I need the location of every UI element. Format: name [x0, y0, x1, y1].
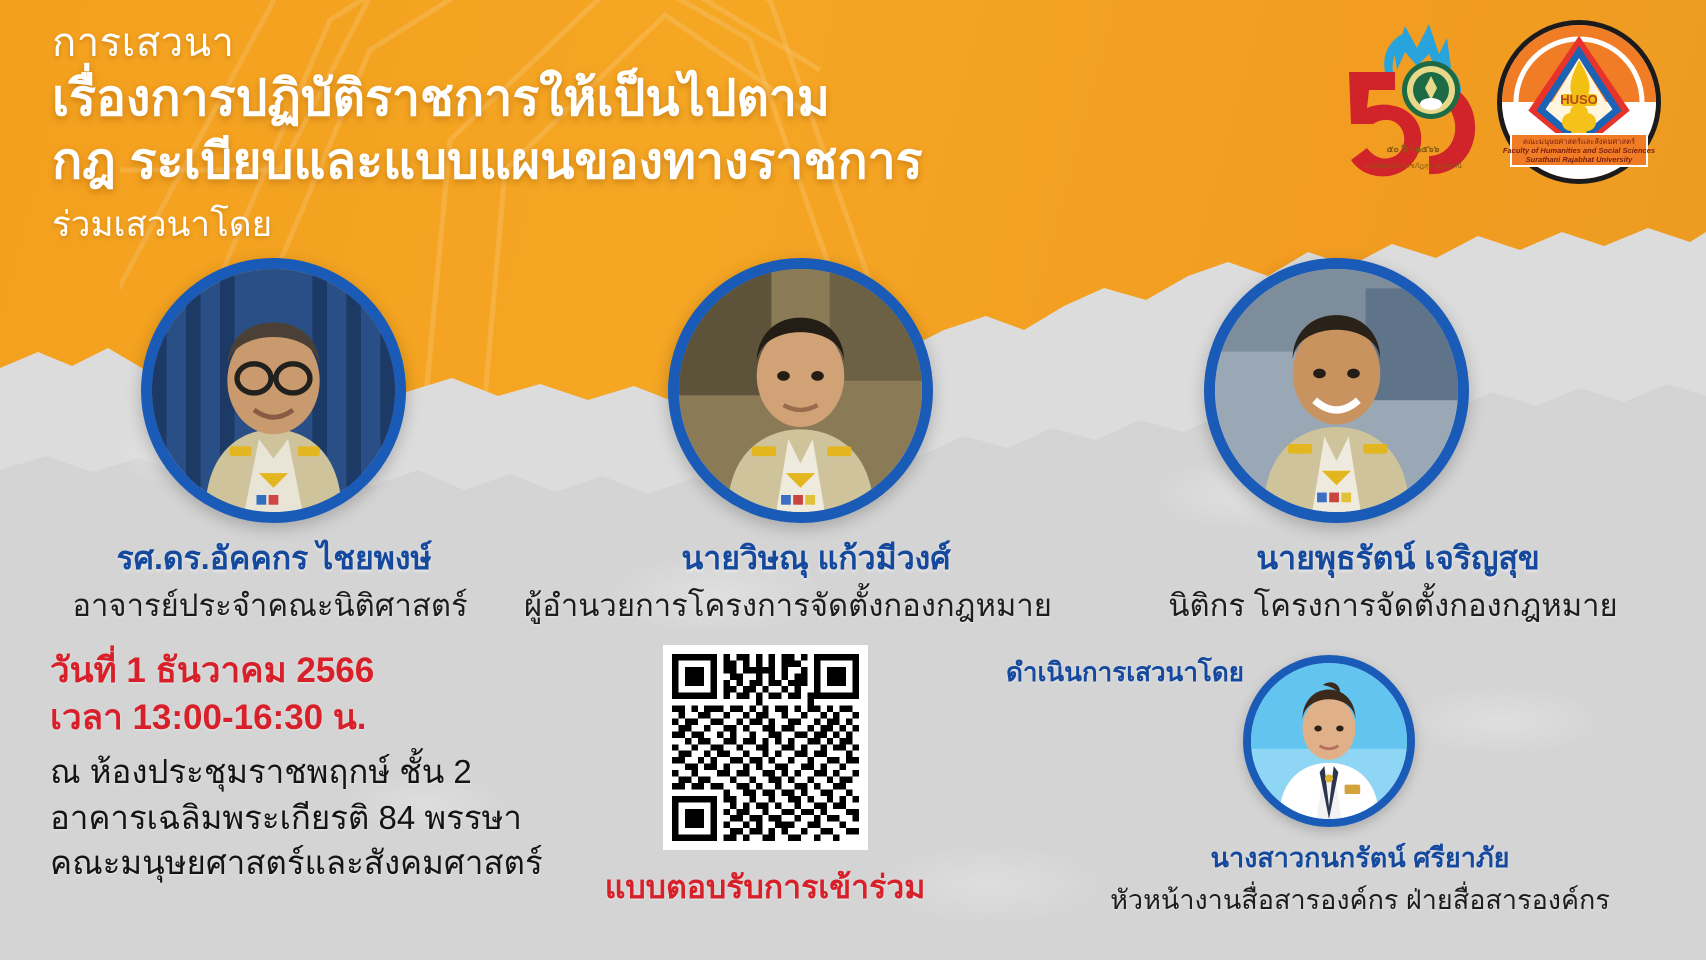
moderator-role: หัวหน้างานสื่อสารองค์กร ฝ่ายสื่อสารองค์ก…: [1040, 878, 1680, 921]
crest-university: Surathani Rajabhat University: [1526, 155, 1634, 164]
event-venue-line-2: อาคารเฉลิมพระเกียรติ 84 พรรษา: [50, 795, 590, 841]
qr-caption: แบบตอบรับการเข้าร่วม: [570, 862, 960, 913]
headline-line-1: การเสวนา: [52, 18, 1212, 68]
speaker-portrait-2: [668, 258, 933, 523]
event-venue-line-3: คณะมนุษยศาสตร์และสังคมศาสตร์: [50, 840, 590, 886]
moderator-portrait: [1243, 655, 1415, 827]
speaker-name-1: รศ.ดร.อัคคกร ไชยพงษ์: [24, 533, 524, 584]
speaker-portrait-row: [0, 258, 1706, 518]
speaker-portrait-1: [141, 258, 406, 523]
anniversary-caption-line1: ๕๐ ปี • ๒๕๖๖: [1387, 144, 1440, 154]
anniversary-caption-line2: มหาวิทยาลัยราชภัฏสุราษฎร์ธานี: [1364, 162, 1462, 170]
moderator-label: ดำเนินการเสวนาโดย: [995, 652, 1255, 693]
crest-english-name: Faculty of Humanities and Social Science…: [1503, 146, 1655, 155]
speaker-role-2: ผู้อำนวยการโครงการจัดตั้งกองกฎหมาย: [478, 580, 1098, 630]
50-years-anniversary-logo: ๕๐ ปี • ๒๕๖๖ มหาวิทยาลัยราชภัฏสุราษฎร์ธา…: [1333, 16, 1493, 186]
huso-faculty-crest: HUSO คณะมนุษยศาสตร์และสังคมศาสตร์ Facult…: [1495, 18, 1663, 186]
speaker-name-row: รศ.ดร.อัคคกร ไชยพงษ์ นายวิษณุ แก้วมีวงศ์…: [0, 533, 1706, 575]
event-details-block: วันที่ 1 ธันวาคม 2566 เวลา 13:00-16:30 น…: [50, 648, 590, 886]
speaker-portrait-3: [1204, 258, 1469, 523]
event-date: วันที่ 1 ธันวาคม 2566: [50, 648, 590, 695]
qr-code[interactable]: [663, 645, 868, 850]
speaker-role-row: อาจารย์ประจำคณะนิติศาสตร์ ผู้อำนวยการโคร…: [0, 580, 1706, 626]
moderator-name: นางสาวกนกรัตน์ ศรียาภัย: [1080, 836, 1640, 879]
speaker-name-3: นายพุธรัตน์ เจริญสุข: [1108, 533, 1688, 584]
speaker-role-1: อาจารย์ประจำคณะนิติศาสตร์: [10, 580, 530, 630]
event-time: เวลา 13:00-16:30 น.: [50, 695, 590, 742]
event-venue-line-1: ณ ห้องประชุมราชพฤกษ์ ชั้น 2: [50, 749, 590, 795]
headline-block: การเสวนา เรื่องการปฏิบัติราชการให้เป็นไป…: [52, 18, 1212, 248]
speaker-name-2: นายวิษณุ แก้วมีวงศ์: [526, 533, 1106, 584]
crest-thai-name: คณะมนุษยศาสตร์และสังคมศาสตร์: [1523, 137, 1635, 146]
speaker-role-3: นิติกร โครงการจัดตั้งกองกฎหมาย: [1078, 580, 1706, 630]
headline-line-4: ร่วมเสวนาโดย: [52, 202, 1212, 248]
headline-line-2: เรื่องการปฏิบัติราชการให้เป็นไปตาม: [52, 68, 1212, 129]
seminar-poster: ๕๐ ปี • ๒๕๖๖ มหาวิทยาลัยราชภัฏสุราษฎร์ธา…: [0, 0, 1706, 960]
qr-code-icon: [672, 654, 859, 841]
headline-line-3: กฎ ระเบียบและแบบแผนของทางราชการ: [52, 131, 1212, 192]
